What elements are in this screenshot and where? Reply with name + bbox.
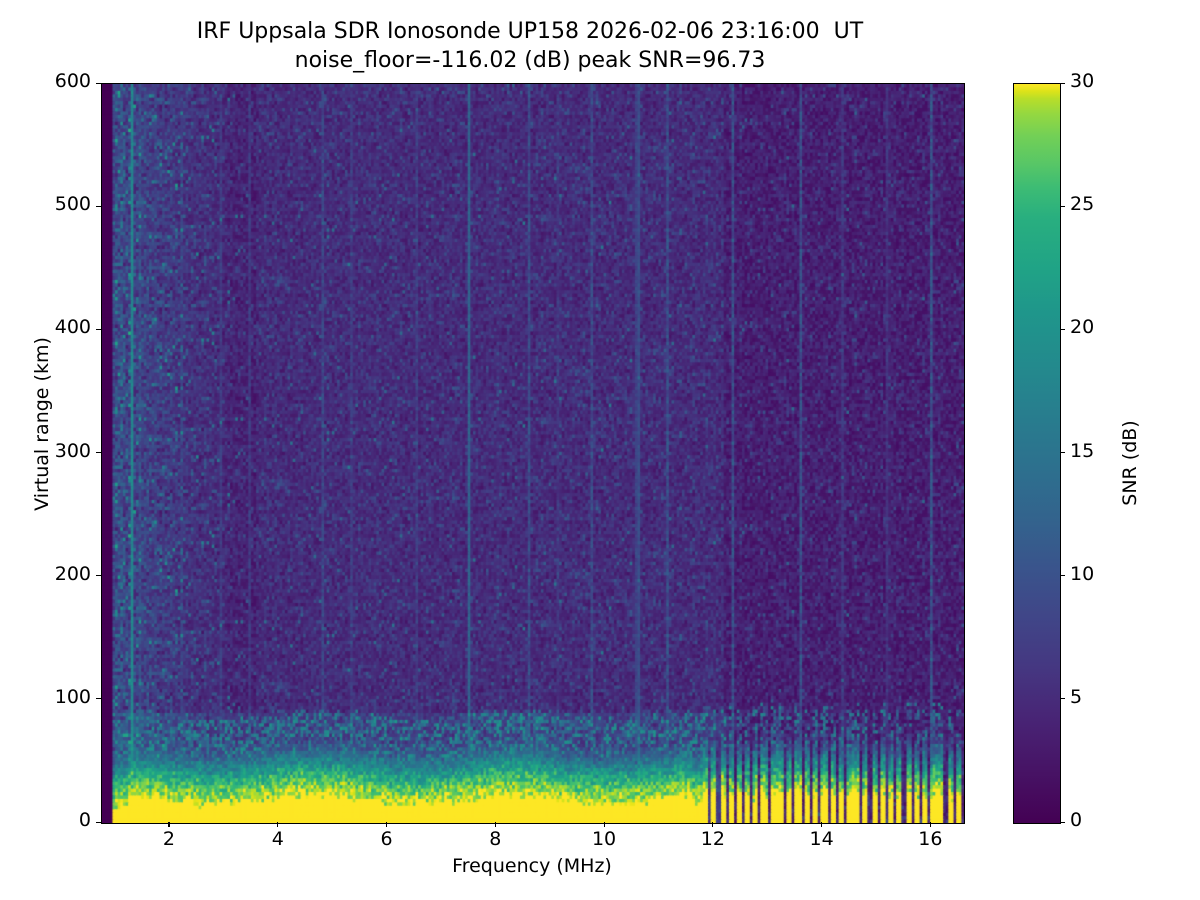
ionogram-axes (101, 83, 965, 824)
x-tick-mark (604, 822, 605, 827)
x-tick-mark (277, 822, 278, 827)
x-tick-mark (168, 822, 169, 827)
x-tick-label: 12 (673, 828, 753, 850)
x-tick-label: 8 (455, 828, 535, 850)
colorbar-tick-label: 5 (1070, 686, 1082, 708)
colorbar-tick-label: 30 (1070, 70, 1094, 92)
y-tick-mark (96, 452, 101, 453)
y-tick-mark (96, 329, 101, 330)
x-tick-label: 16 (890, 828, 970, 850)
x-tick-mark (821, 822, 822, 827)
colorbar-tick-label: 15 (1070, 440, 1094, 462)
x-tick-mark (386, 822, 387, 827)
y-tick-mark (96, 575, 101, 576)
figure-title: IRF Uppsala SDR Ionosonde UP158 2026-02-… (0, 18, 1060, 75)
colorbar-tick-label: 20 (1070, 316, 1094, 338)
y-tick-mark (96, 83, 101, 84)
colorbar-tick-label: 10 (1070, 563, 1094, 585)
x-axis-label: Frequency (MHz) (101, 855, 963, 877)
colorbar-label: SNR (dB) (1119, 343, 1141, 583)
x-tick-mark (712, 822, 713, 827)
x-tick-label: 10 (564, 828, 644, 850)
colorbar-tick-mark (1060, 575, 1065, 576)
colorbar-tick-label: 25 (1070, 193, 1094, 215)
y-tick-mark (96, 206, 101, 207)
colorbar (1013, 83, 1061, 824)
x-tick-label: 14 (782, 828, 862, 850)
colorbar-tick-mark (1060, 83, 1065, 84)
x-tick-mark (930, 822, 931, 827)
ionogram-heatmap (102, 84, 964, 823)
y-tick-label: 600 (23, 70, 91, 92)
y-tick-mark (96, 698, 101, 699)
colorbar-tick-mark (1060, 452, 1065, 453)
x-tick-label: 2 (129, 828, 209, 850)
colorbar-tick-mark (1060, 206, 1065, 207)
x-tick-mark (495, 822, 496, 827)
ionogram-figure: IRF Uppsala SDR Ionosonde UP158 2026-02-… (0, 0, 1200, 900)
colorbar-tick-mark (1060, 329, 1065, 330)
y-tick-label: 0 (23, 809, 91, 831)
colorbar-tick-mark (1060, 822, 1065, 823)
x-tick-label: 6 (347, 828, 427, 850)
y-tick-mark (96, 822, 101, 823)
colorbar-tick-mark (1060, 698, 1065, 699)
x-tick-label: 4 (238, 828, 318, 850)
colorbar-tick-label: 0 (1070, 809, 1082, 831)
title-line-2: noise_floor=-116.02 (dB) peak SNR=96.73 (0, 47, 1060, 76)
title-line-1: IRF Uppsala SDR Ionosonde UP158 2026-02-… (0, 18, 1060, 47)
y-axis-label: Virtual range (km) (31, 144, 53, 704)
